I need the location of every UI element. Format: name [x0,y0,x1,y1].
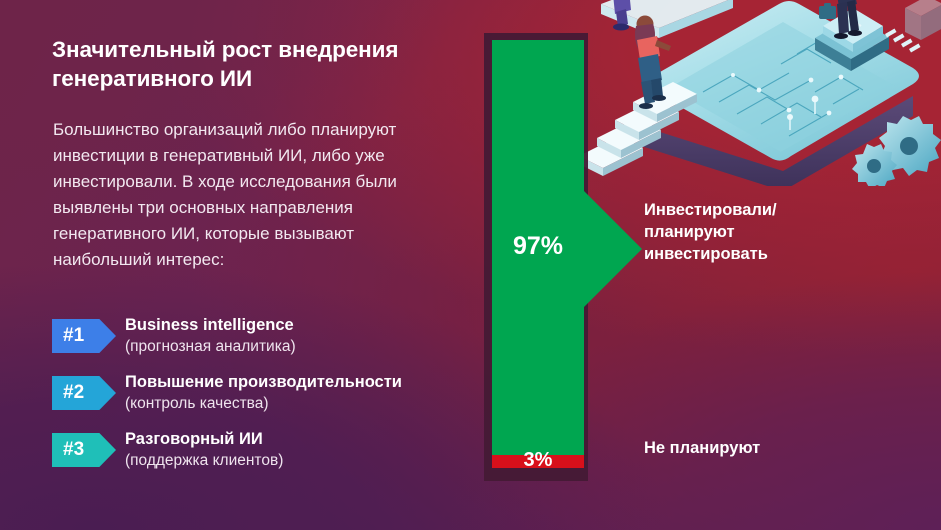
legend-invested-line-1: Инвестировали/ [644,200,844,222]
rank-text-2: Повышение производительности (контроль к… [125,372,402,414]
rank-heading-2: Повышение производительности [125,372,402,393]
rank-subtext-3: (поддержка клиентов) [125,451,283,471]
legend-invested-line-3: инвестировать [644,244,844,266]
page-title: Значительный рост внедрения генеративног… [52,36,452,94]
rank-heading-3: Разговорный ИИ [125,429,283,450]
rank-text-3: Разговорный ИИ (поддержка клиентов) [125,429,283,471]
bar-arrow-pointer [584,191,642,307]
rank-badge-1: #1 [52,319,116,353]
legend-label-not-planning: Не планируют [644,438,844,460]
rank-text-1: Business intelligence (прогнозная аналит… [125,315,296,357]
rank-badge-3: #3 [52,433,116,467]
list-item[interactable]: #2 Повышение производительности (контрол… [52,372,452,429]
legend-invested-line-2: планируют [644,222,844,244]
legend-label-invested: Инвестировали/ планируют инвестировать [644,200,844,266]
list-item[interactable]: #3 Разговорный ИИ (поддержка клиентов) [52,429,452,486]
stacked-bar-chart: 97% 3% [480,29,640,484]
bar-stack: 97% 3% [492,40,584,468]
rank-badge-2: #2 [52,376,116,410]
rank-heading-1: Business intelligence [125,315,296,336]
body-paragraph: Большинство организаций либо планируют и… [53,117,415,273]
ranked-list: #1 Business intelligence (прогнозная ана… [52,315,452,486]
bar-value-not-planning: 3% [492,449,584,472]
list-item[interactable]: #1 Business intelligence (прогнозная ана… [52,315,452,372]
bar-value-invested: 97% [492,232,584,261]
rank-subtext-1: (прогнозная аналитика) [125,337,296,357]
rank-subtext-2: (контроль качества) [125,394,402,414]
infographic-slide: Значительный рост внедрения генеративног… [0,0,941,530]
